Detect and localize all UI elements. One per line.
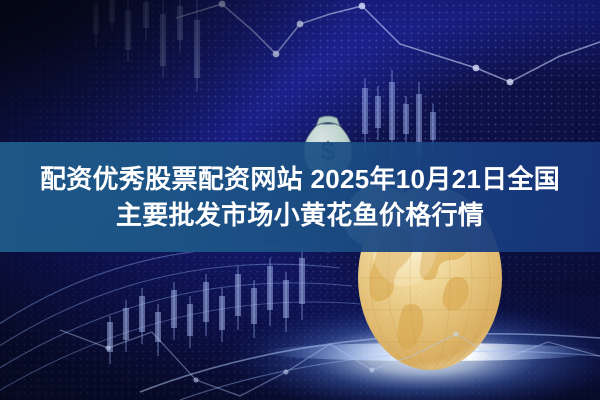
headline-line-2: 主要批发市场小黄花鱼价格行情 <box>116 198 484 232</box>
stock-news-banner: $ $ <box>0 0 600 400</box>
headline-band: 配资优秀股票配资网站 2025年10月21日全国 主要批发市场小黄花鱼价格行情 <box>0 142 600 252</box>
headline-line-1: 配资优秀股票配资网站 2025年10月21日全国 <box>40 162 560 196</box>
